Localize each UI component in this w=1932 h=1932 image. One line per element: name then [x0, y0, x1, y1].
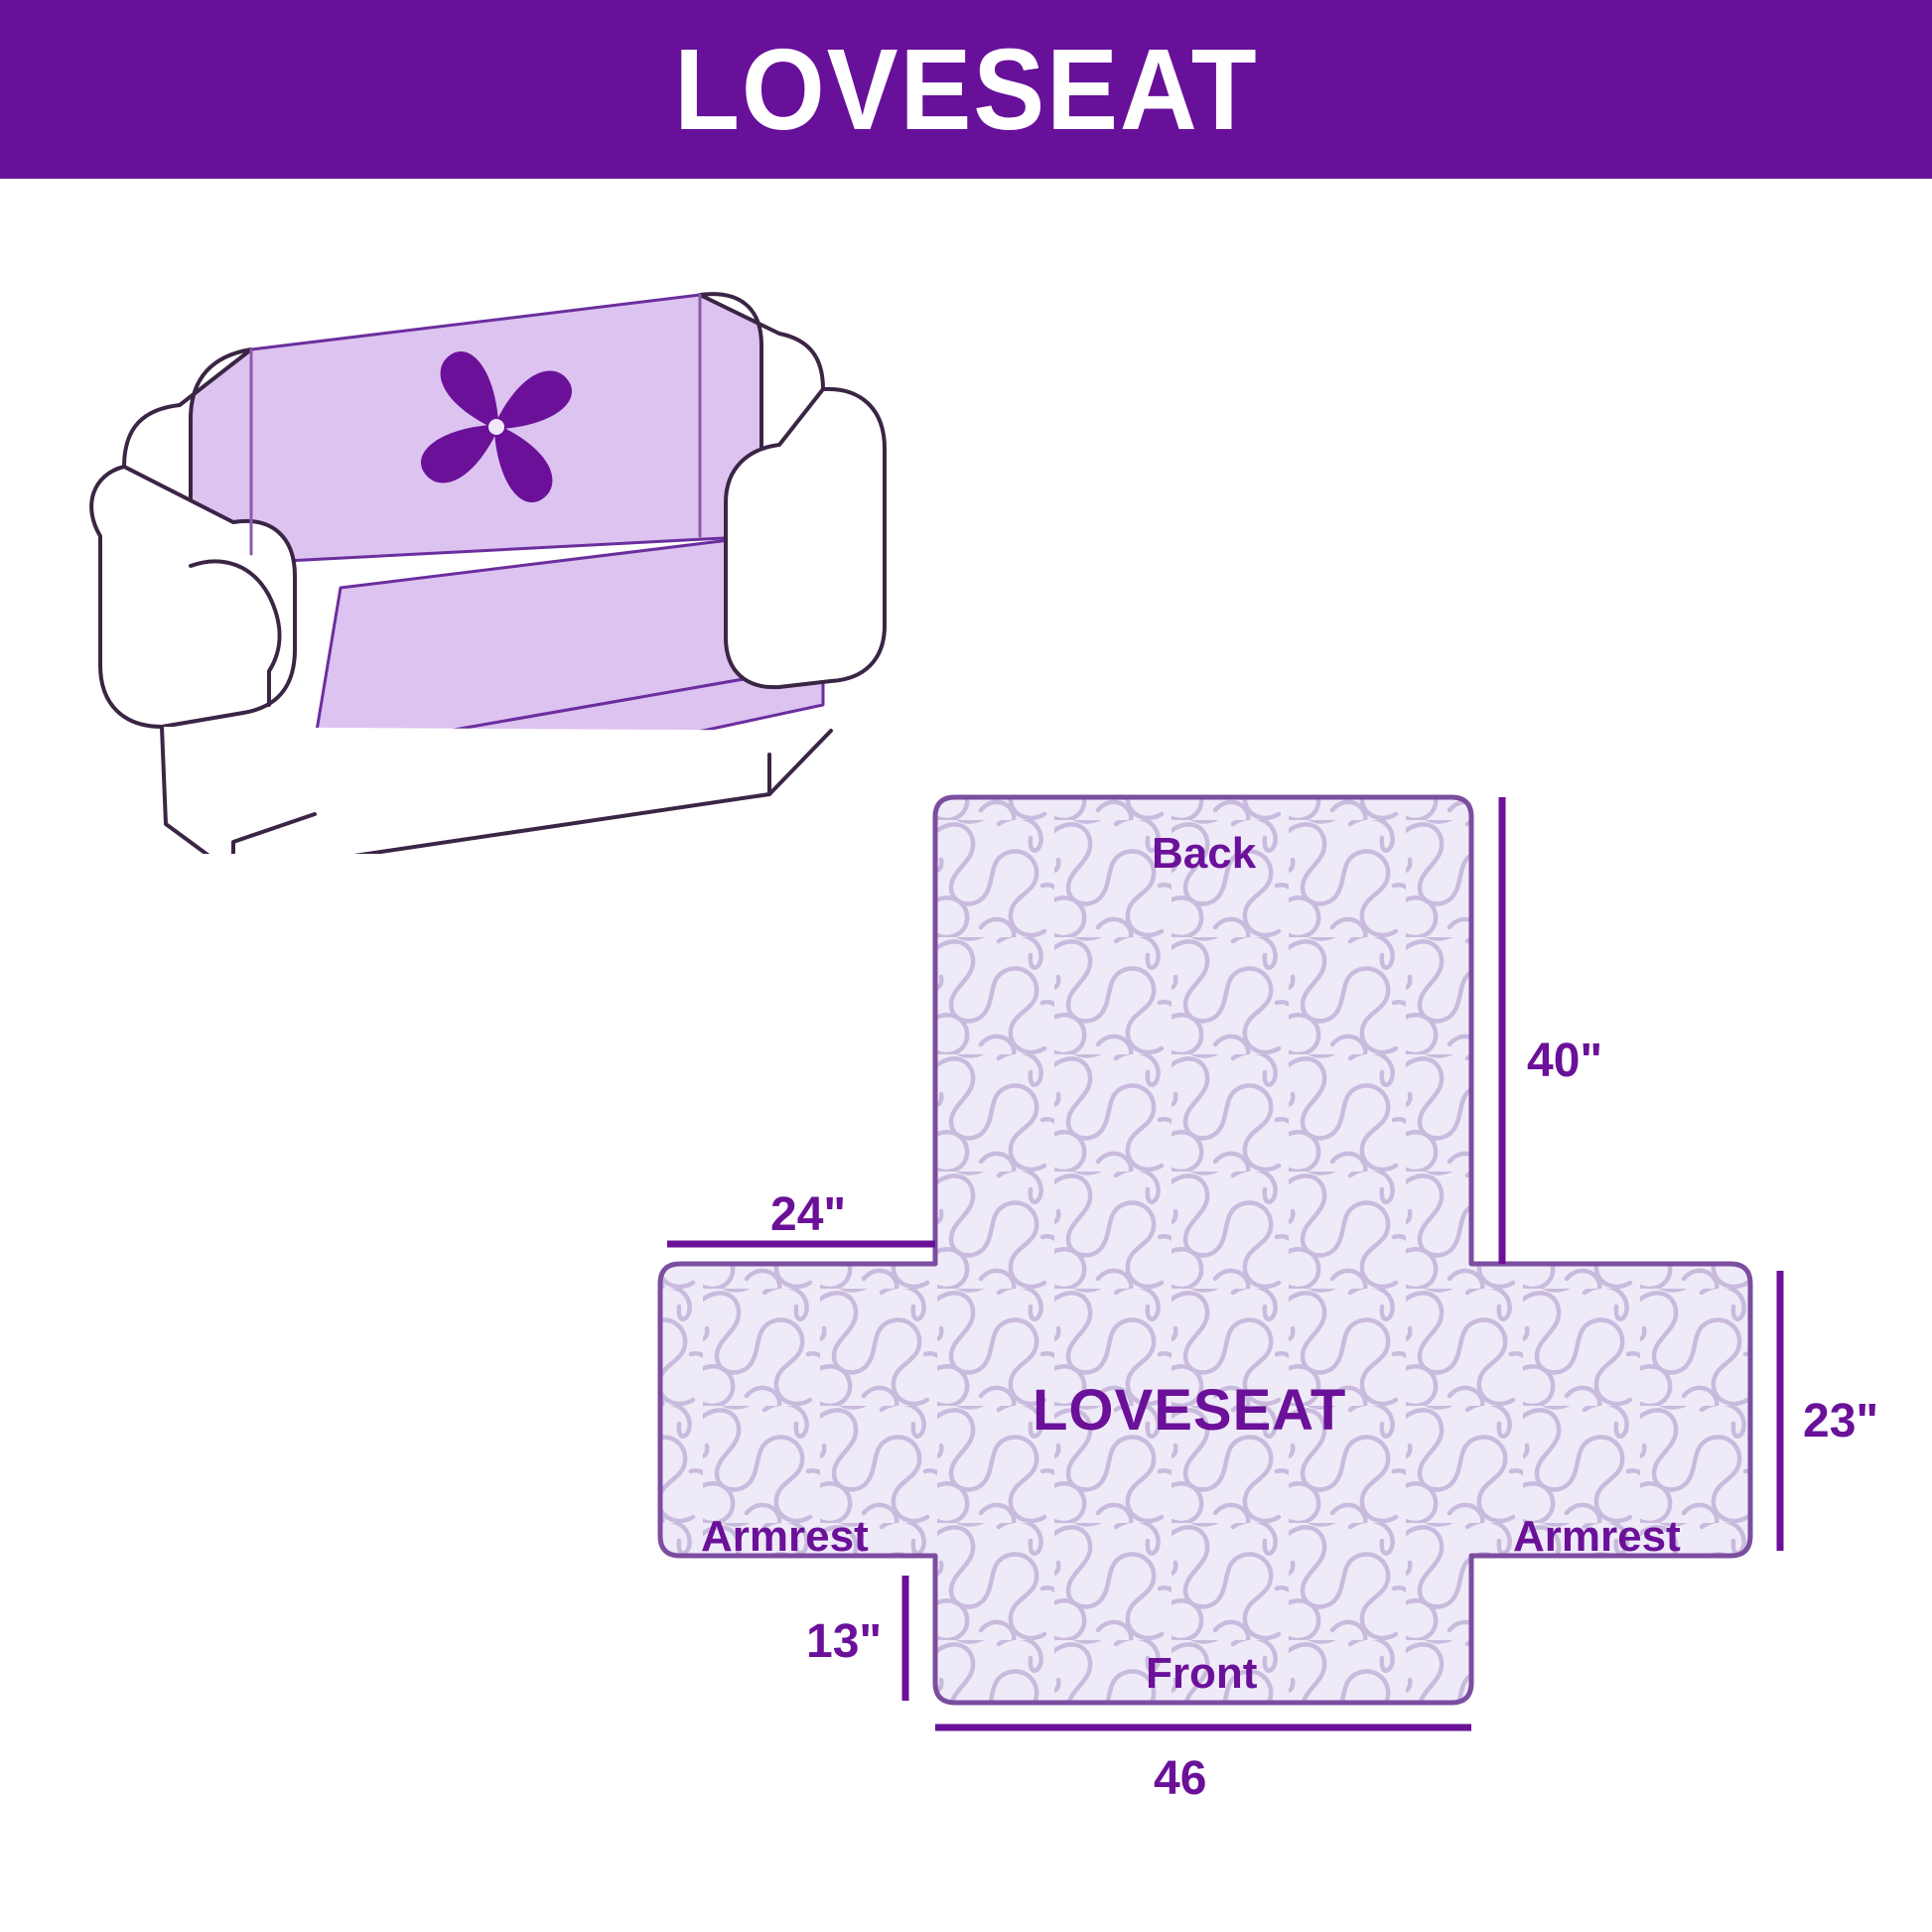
panel-label-front: Front	[1146, 1652, 1257, 1696]
panel-label-center: LOVESEAT	[1033, 1382, 1346, 1440]
header-banner: LOVESEAT	[0, 0, 1932, 179]
panel-label-armrest-left: Armrest	[701, 1515, 869, 1559]
page-title: LOVESEAT	[674, 32, 1258, 147]
panel-label-armrest-right: Armrest	[1513, 1515, 1681, 1559]
sofa-base-skirt	[162, 727, 831, 854]
product-dimension-diagram: LOVESEAT	[0, 0, 1932, 1932]
dimension-label-front-width: 46	[1154, 1755, 1206, 1803]
panel-label-back: Back	[1152, 832, 1256, 876]
dimension-label-front-drop: 13"	[806, 1618, 882, 1666]
dimension-label-back-width: 24"	[770, 1191, 846, 1239]
dimension-label-armrest-depth: 23"	[1803, 1398, 1878, 1446]
dimension-label-back-height: 40"	[1527, 1037, 1602, 1085]
loveseat-illustration	[84, 238, 958, 854]
cover-cross-outline	[660, 797, 1750, 1703]
